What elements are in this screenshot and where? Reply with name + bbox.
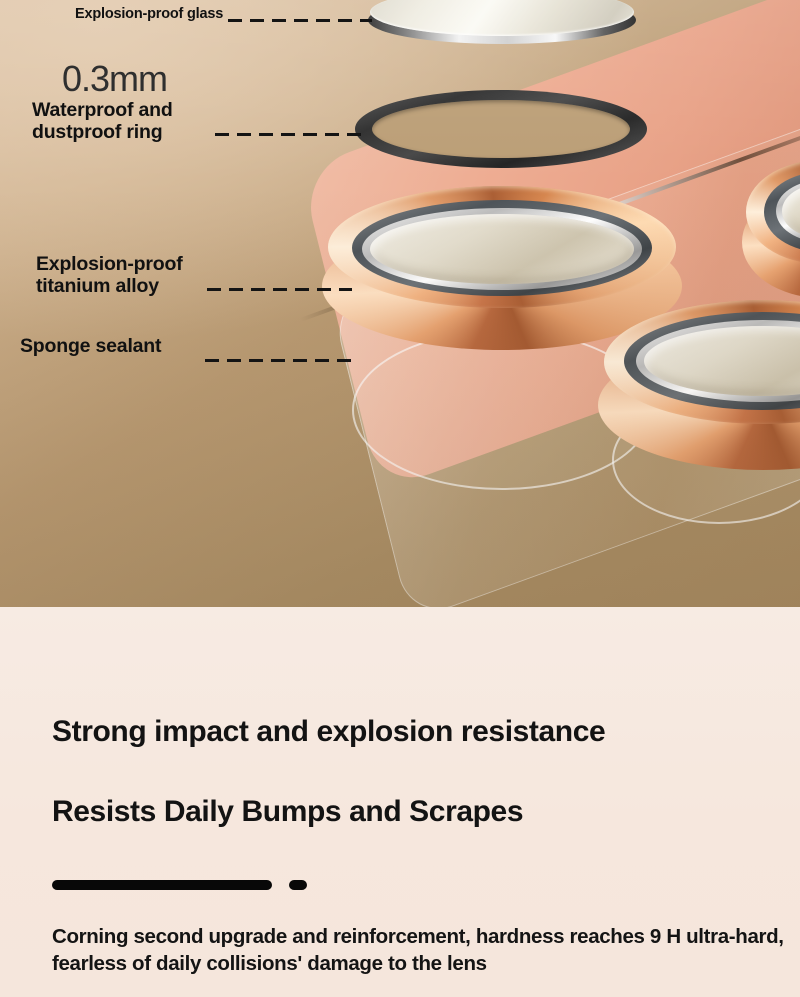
callout-label-line2: dustproof ring: [32, 121, 173, 143]
thickness-callout: 0.3mm: [62, 58, 167, 100]
callout-label-line1: Waterproof and: [32, 99, 173, 121]
callout-label-line2: titanium alloy: [36, 275, 183, 297]
body-paragraph: Corning second upgrade and reinforcement…: [52, 923, 792, 977]
callout-label-sponge-sealant: Sponge sealant: [20, 335, 161, 357]
accent-rule-bar: [52, 880, 272, 890]
callout-label-waterproof-dustproof-ring: Waterproof and dustproof ring: [32, 99, 173, 143]
callout-leader-line-sponge: [205, 359, 351, 362]
product-hero-image: Explosion-proof glass 0.3mm Waterproof a…: [0, 0, 800, 607]
marketing-copy-panel: Strong impact and explosion resistance R…: [0, 607, 800, 997]
headline: Strong impact and explosion resistance: [52, 715, 605, 749]
callout-leader-line-ring: [215, 133, 365, 136]
callout-leader-line-glass: [228, 19, 372, 22]
callout-label-explosion-proof-glass: Explosion-proof glass: [75, 6, 223, 23]
accent-rule-dot: [289, 880, 307, 890]
subheadline: Resists Daily Bumps and Scrapes: [52, 795, 523, 829]
callout-leader-line-titanium: [207, 288, 352, 291]
callout-label-line1: Explosion-proof: [36, 253, 183, 275]
callout-label-explosion-proof-titanium-alloy: Explosion-proof titanium alloy: [36, 253, 183, 297]
product-detail-page: Explosion-proof glass 0.3mm Waterproof a…: [0, 0, 800, 997]
